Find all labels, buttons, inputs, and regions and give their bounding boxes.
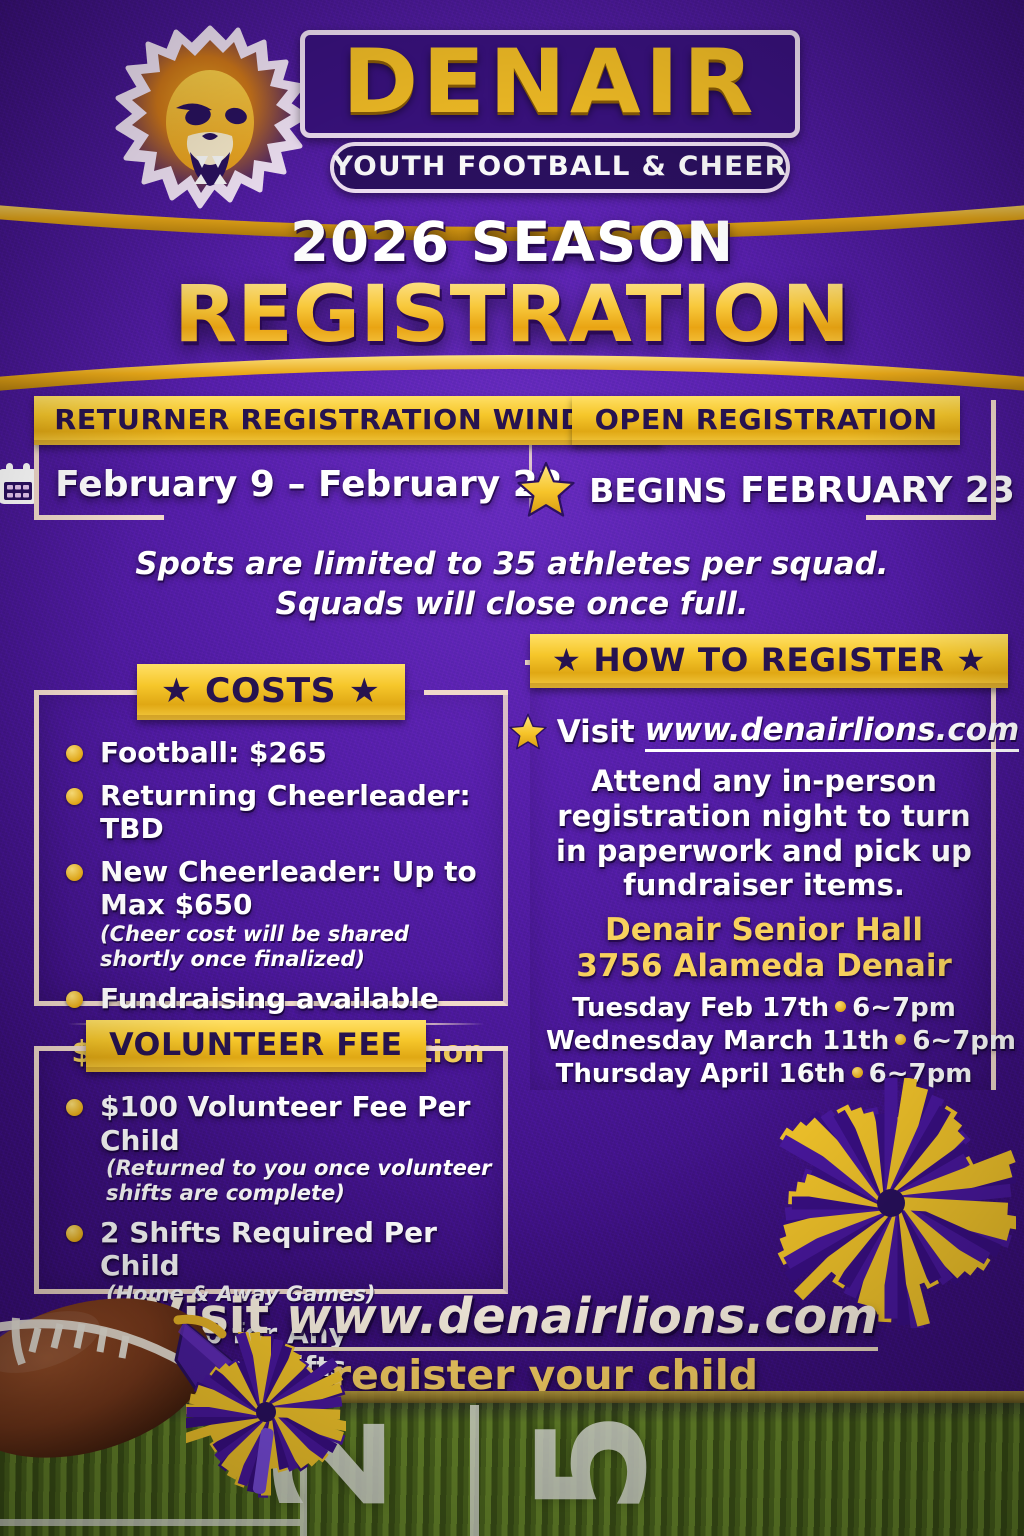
wordmark: DENAIR YOUTH FOOTBALL & CHEER <box>300 30 800 138</box>
bullet-dot-icon <box>66 1225 83 1242</box>
title-season: 2026 SEASON <box>0 210 1024 274</box>
open-banner: OPEN REGISTRATION <box>572 396 960 445</box>
open-date-value: FEBRUARY 23 <box>740 470 1015 511</box>
volunteer-item-fee: $100 Volunteer Fee Per Child <box>64 1090 492 1157</box>
separator-dot-icon <box>852 1067 863 1078</box>
open-registration: OPEN REGISTRATION <box>536 392 996 532</box>
costs-cheer-note: (Cheer cost will be shared shortly once … <box>64 922 492 972</box>
yard-center-line <box>470 1405 479 1536</box>
how-to-register-panel: ★ HOW TO REGISTER ★ Visit www.denairlion… <box>530 660 996 1090</box>
costs-item-label: Returning Cheerleader: TBD <box>100 779 471 846</box>
separator-dot-icon <box>895 1034 906 1045</box>
pompom-bottom-icon <box>186 1332 346 1502</box>
volunteer-item-shifts: 2 Shifts Required Per Child <box>64 1216 492 1283</box>
how-paragraph: Attend any in-person registration night … <box>546 764 982 903</box>
registration-windows: RETURNER REGISTRATION WINDOW <box>0 392 1024 532</box>
returner-dates: February 9 – February 22 <box>55 464 563 505</box>
yard-boundary-line <box>0 1519 300 1526</box>
brand-tagline-box: YOUTH FOOTBALL & CHEER <box>330 142 790 193</box>
frame-edge <box>34 515 164 520</box>
session-row: Tuesday Feb 17th6~7pm <box>546 992 982 1025</box>
star-icon <box>509 713 547 751</box>
how-visit-url[interactable]: www.denairlions.com <box>645 712 1020 752</box>
open-date-line: BEGINS FEBRUARY 23 <box>536 461 996 519</box>
volunteer-item-label: 2 Shifts Required Per Child <box>100 1216 437 1283</box>
session-day: Wednesday March 11th <box>546 1026 889 1056</box>
session-time: 6~7pm <box>852 993 956 1023</box>
bullet-dot-icon <box>66 864 83 881</box>
volunteer-item-label: $100 Volunteer Fee Per Child <box>100 1090 470 1157</box>
frame-edge <box>991 400 996 520</box>
title-registration: REGISTRATION <box>0 270 1024 360</box>
bullet-dot-icon <box>66 1099 83 1116</box>
returner-registration: RETURNER REGISTRATION WINDOW <box>34 392 524 532</box>
open-date-prefix: BEGINS <box>589 471 727 510</box>
brand-tagline: YOUTH FOOTBALL & CHEER <box>327 151 793 182</box>
open-banner-label: OPEN REGISTRATION <box>594 403 937 436</box>
returner-date-line: February 9 – February 22 <box>34 461 524 507</box>
poster-root: DENAIR YOUTH FOOTBALL & CHEER 2026 SEASO… <box>0 0 1024 1536</box>
bullet-dot-icon <box>66 788 83 805</box>
spots-note-line2: Squads will close once full. <box>0 585 1024 625</box>
bullet-dot-icon <box>66 991 83 1008</box>
title-block: 2026 SEASON REGISTRATION <box>0 210 1024 360</box>
venue-name: Denair Senior Hall <box>546 913 982 949</box>
costs-item-label: Football: $265 <box>100 736 327 769</box>
volunteer-panel: VOLUNTEER FEE $100 Volunteer Fee Per Chi… <box>34 1046 508 1294</box>
separator-dot-icon <box>835 1001 846 1012</box>
session-day: Tuesday Feb 17th <box>572 993 829 1023</box>
open-date: BEGINS FEBRUARY 23 <box>589 470 1015 511</box>
how-visit-label: Visit <box>557 714 635 750</box>
star-icon <box>517 461 575 519</box>
open-banner-wrap: OPEN REGISTRATION <box>536 392 996 445</box>
volunteer-list: $100 Volunteer Fee Per Child <box>64 1090 492 1157</box>
costs-item-fundraising: Fundraising available <box>64 982 492 1016</box>
costs-item-returning-cheer: Returning Cheerleader: TBD <box>64 779 492 846</box>
volunteer-fee-note: (Returned to you once volunteer shifts a… <box>64 1156 492 1206</box>
venue-address: 3756 Alameda Denair <box>546 949 982 985</box>
volunteer-shift-list: 2 Shifts Required Per Child <box>64 1216 492 1283</box>
how-visit-line: Visit www.denairlions.com <box>546 712 982 752</box>
costs-item-label: New Cheerleader: Up to Max $650 <box>100 855 477 922</box>
spots-note: Spots are limited to 35 athletes per squ… <box>0 545 1024 624</box>
brand-name-box: DENAIR <box>300 30 800 138</box>
costs-item-football: Football: $265 <box>64 736 492 770</box>
cta-url[interactable]: www.denairlions.com <box>286 1288 878 1351</box>
costs-fundraising-list: Fundraising available <box>64 982 492 1016</box>
spots-note-line1: Spots are limited to 35 athletes per squ… <box>0 545 1024 585</box>
how-body: Visit www.denairlions.com Attend any in-… <box>530 660 996 1101</box>
costs-list: Football: $265 Returning Cheerleader: TB… <box>64 736 492 922</box>
costs-item-new-cheer: New Cheerleader: Up to Max $650 <box>64 855 492 922</box>
session-row: Wednesday March 11th6~7pm <box>546 1025 982 1058</box>
session-list: Tuesday Feb 17th6~7pm Wednesday March 11… <box>546 992 982 1090</box>
lion-head-icon <box>110 24 310 214</box>
bullet-dot-icon <box>66 745 83 762</box>
returner-banner-wrap: RETURNER REGISTRATION WINDOW <box>34 392 524 445</box>
yard-number-right: 5 <box>506 1409 680 1515</box>
frame-edge <box>866 515 996 520</box>
brand-name: DENAIR <box>312 37 788 127</box>
costs-panel: ★ COSTS ★ Football: $265 Returning Cheer… <box>34 690 508 1006</box>
costs-item-label: Fundraising available <box>100 982 439 1015</box>
header: DENAIR YOUTH FOOTBALL & CHEER <box>0 14 1024 214</box>
session-time: 6~7pm <box>912 1026 1016 1056</box>
